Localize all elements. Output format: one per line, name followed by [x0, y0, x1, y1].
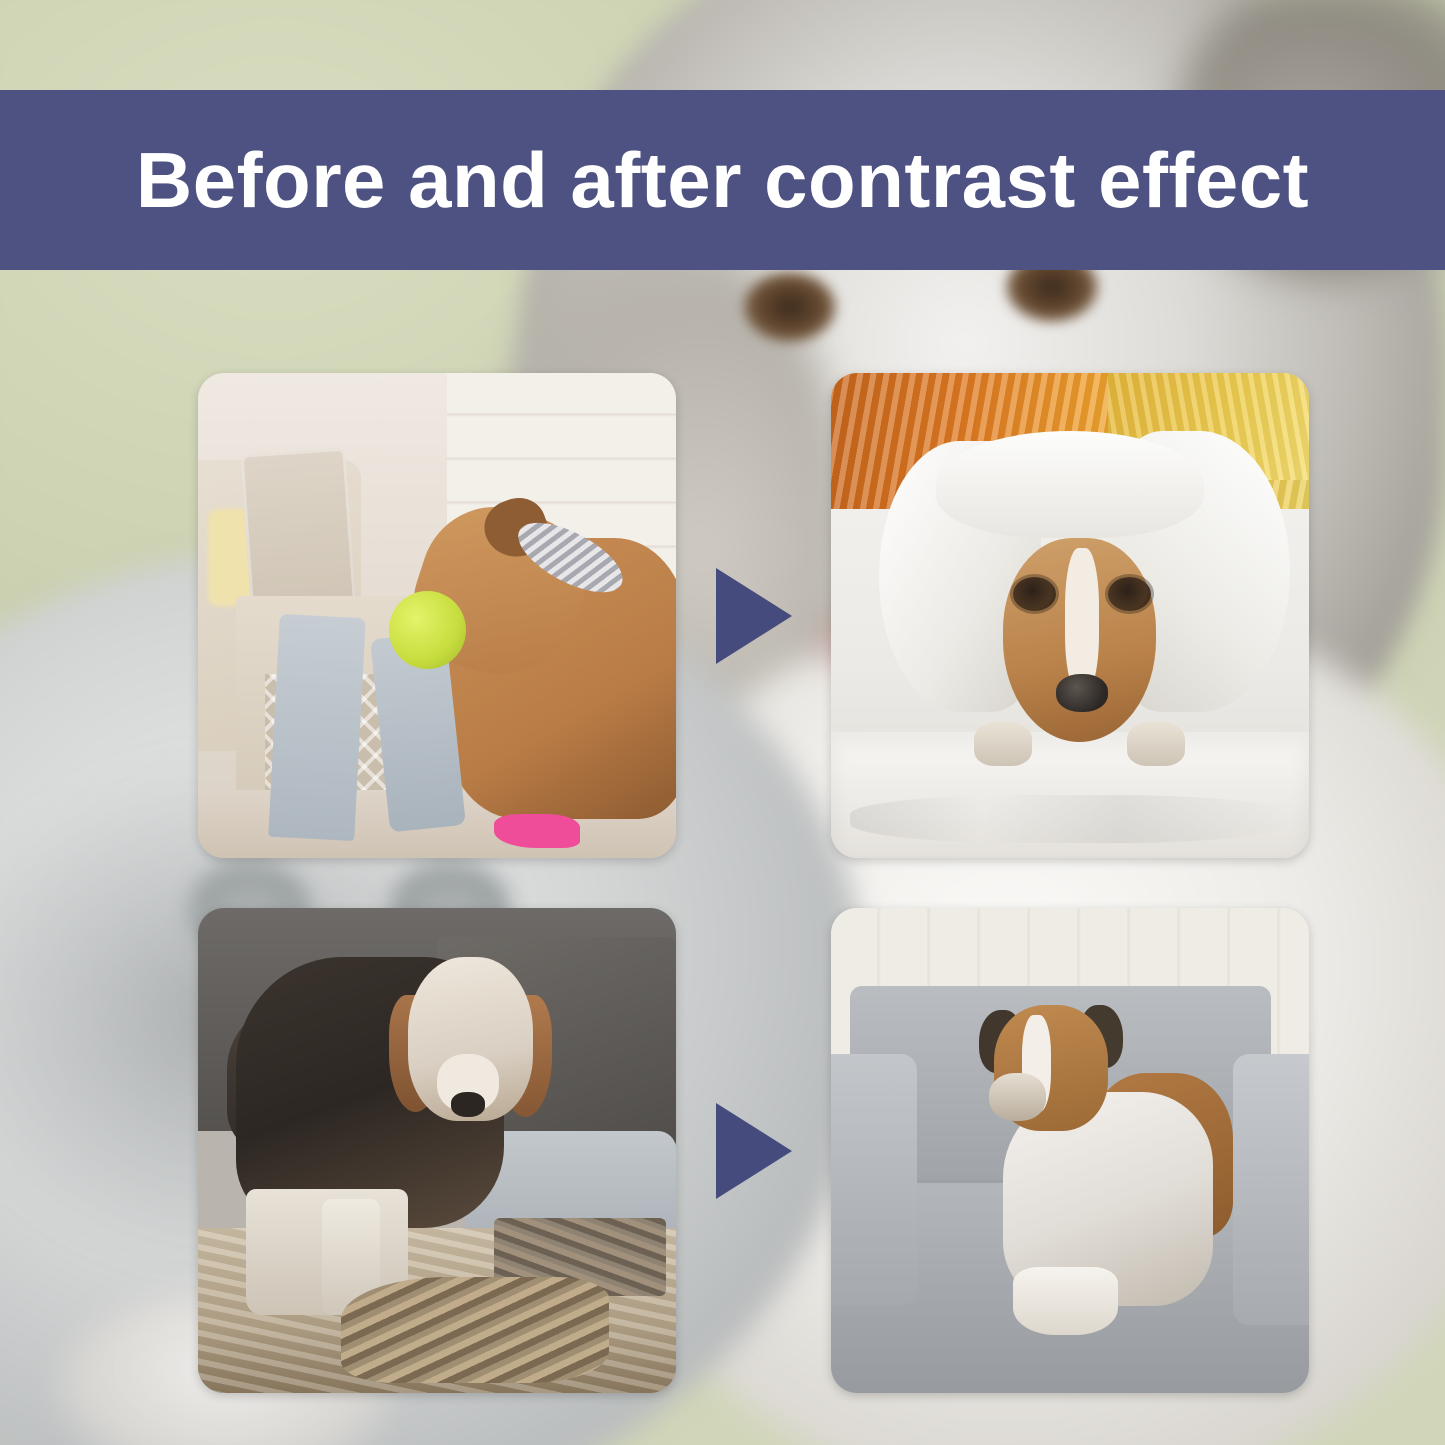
header-banner: Before and after contrast effect	[0, 90, 1445, 270]
after-photo-1	[831, 373, 1309, 858]
background-dog-eye-left	[744, 272, 836, 342]
page-title: Before and after contrast effect	[136, 141, 1309, 219]
p4-dog-paws	[1013, 1267, 1118, 1335]
p2-dog-eye-right	[1108, 577, 1151, 611]
p1-basket-lid	[240, 447, 356, 619]
p2-dog-eye-left	[1013, 577, 1056, 611]
triangle-right-icon	[716, 1103, 792, 1199]
comparison-row-1	[198, 373, 1309, 858]
p3-debris	[341, 1277, 609, 1384]
p2-sheet-fold	[850, 795, 1290, 844]
p1-towel-left	[269, 613, 367, 840]
p2-dog-nose	[1056, 674, 1109, 713]
p2-blanket-fold-top	[936, 431, 1204, 538]
p2-dog-paw-right	[1127, 722, 1184, 766]
arrow-container-2	[676, 908, 831, 1393]
p1-pink-item	[494, 814, 580, 848]
p2-dog-blaze	[1065, 548, 1098, 694]
poster: Before and after contrast effect	[0, 0, 1445, 1445]
p3-dog-nose	[451, 1092, 484, 1116]
p1-tennis-ball	[389, 591, 465, 669]
before-photo-1	[198, 373, 676, 858]
before-photo-2	[198, 908, 676, 1393]
triangle-right-icon	[716, 568, 792, 664]
after-photo-2	[831, 908, 1309, 1393]
p4-dog-snout	[989, 1073, 1046, 1122]
p4-sofa-arm-left	[831, 1054, 917, 1306]
p4-sofa-arm-right	[1233, 1054, 1309, 1326]
p2-dog-paw-left	[974, 722, 1031, 766]
comparison-row-2	[198, 908, 1309, 1393]
arrow-container-1	[676, 373, 831, 858]
